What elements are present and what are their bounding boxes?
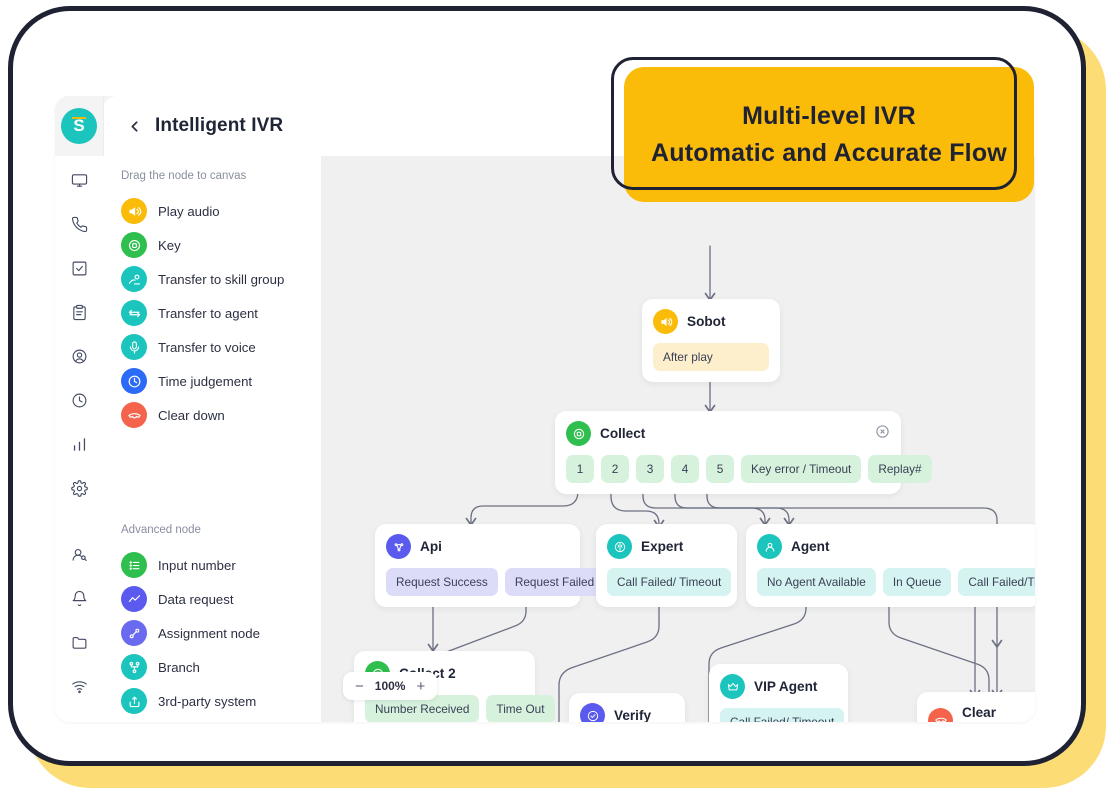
node-chip[interactable]: After play (653, 343, 769, 371)
checkbox-icon[interactable] (67, 256, 91, 280)
node-chips: After play (653, 343, 769, 371)
screenshot-stage: Intelligent IVR S (0, 0, 1120, 800)
link-node-icon (121, 620, 147, 646)
list-number-icon (121, 552, 147, 578)
rail-bottom-group (67, 522, 91, 722)
palette-item-label: Transfer to skill group (158, 272, 284, 287)
flow-node-sobot[interactable]: Sobot After play (642, 299, 780, 382)
palette-item-input-number[interactable]: Input number (121, 548, 321, 582)
palette-gap (121, 432, 321, 524)
branch-icon (121, 654, 147, 680)
speaker-icon (121, 198, 147, 224)
microphone-icon (121, 334, 147, 360)
keypad-icon (566, 421, 591, 446)
monitor-icon[interactable] (67, 168, 91, 192)
palette-item-transfer-to-skill-group[interactable]: Transfer to skill group (121, 262, 321, 296)
flow-node-vip-agent[interactable]: VIP Agent Call Failed/ Timeout (709, 664, 848, 722)
zoom-out-button[interactable]: − (355, 679, 364, 694)
clipboard-icon[interactable] (67, 300, 91, 324)
zoom-control: − 100% + (343, 672, 437, 700)
palette-item-label: Transfer to voice (158, 340, 256, 355)
palette-item-time-judgement[interactable]: Time judgement (121, 364, 321, 398)
user-search-icon[interactable] (67, 542, 91, 566)
palette-item-transfer-to-voice[interactable]: Transfer to voice (121, 330, 321, 364)
flow-node-agent[interactable]: Agent No Agent Available In Queue Call F… (746, 524, 1035, 607)
node-title: VIP Agent (754, 679, 817, 694)
node-header: Agent (757, 534, 1030, 559)
brain-icon (607, 534, 632, 559)
node-chip[interactable]: 2 (601, 455, 629, 483)
flow-node-verify[interactable]: Verify After Assignment (569, 693, 685, 722)
close-icon[interactable] (875, 424, 890, 439)
palette-item-label: Input number (158, 558, 236, 573)
keypad-icon (121, 232, 147, 258)
crown-icon (720, 674, 745, 699)
palette-item-label: Transfer to agent (158, 306, 258, 321)
hangup-icon (121, 402, 147, 428)
node-chip[interactable]: Call Failed/Timeout (958, 568, 1035, 596)
brand-logo[interactable]: S (61, 108, 97, 144)
node-chip[interactable]: Request Failed (505, 568, 604, 596)
verify-badge-icon (580, 703, 605, 722)
palette-item-label: Data request (158, 592, 234, 607)
palette-item-label: Assignment node (158, 626, 260, 641)
node-chip[interactable]: 1 (566, 455, 594, 483)
node-title: Expert (641, 539, 683, 554)
palette-item-play-audio[interactable]: Play audio (121, 194, 321, 228)
clock-icon[interactable] (67, 388, 91, 412)
user-circle-icon[interactable] (67, 344, 91, 368)
palette-item-data-request[interactable]: Data request (121, 582, 321, 616)
node-chips: Call Failed/ Timeout (720, 708, 837, 722)
node-chips: Call Failed/ Timeout (607, 568, 726, 596)
zoom-in-button[interactable]: + (416, 679, 425, 694)
node-title: Api (420, 539, 442, 554)
node-chips: Request Success Request Failed (386, 568, 569, 596)
node-header: Collect (566, 421, 890, 446)
clock-icon (121, 368, 147, 394)
icon-rail (55, 156, 103, 722)
node-header: Clear Down (928, 705, 1035, 722)
page-title: Intelligent IVR (155, 115, 283, 137)
node-title: Verify (614, 708, 651, 722)
wifi-icon[interactable] (67, 674, 91, 698)
hangup-icon (928, 708, 953, 723)
node-header: VIP Agent (720, 674, 837, 699)
user-icon (757, 534, 782, 559)
flow-node-api[interactable]: Api Request Success Request Failed (375, 524, 580, 607)
bell-icon[interactable] (67, 586, 91, 610)
palette-item-3rd-party-system[interactable]: 3rd-party system (121, 684, 321, 718)
palette-item-assignment-node[interactable]: Assignment node (121, 616, 321, 650)
palette-item-label: Branch (158, 660, 200, 675)
node-header: Verify (580, 703, 674, 722)
flow-node-clear-down[interactable]: Clear Down (917, 692, 1035, 722)
node-chip[interactable]: Replay# (868, 455, 931, 483)
flow-canvas[interactable]: Sobot After play Collect (321, 156, 1035, 722)
node-chip[interactable]: Key error / Timeout (741, 455, 861, 483)
node-chips: 1 2 3 4 5 Key error / Timeout Replay# (566, 455, 890, 483)
folder-icon[interactable] (67, 630, 91, 654)
node-chip[interactable]: Call Failed/ Timeout (720, 708, 844, 722)
node-chips: No Agent Available In Queue Call Failed/… (757, 568, 1030, 596)
node-title: Sobot (687, 314, 726, 329)
node-chip[interactable]: Call Failed/ Timeout (607, 568, 731, 596)
line-chart-icon (121, 586, 147, 612)
palette-item-branch[interactable]: Branch (121, 650, 321, 684)
gear-icon[interactable] (67, 476, 91, 500)
palette-item-clear-down[interactable]: Clear down (121, 398, 321, 432)
chevron-left-icon[interactable] (123, 115, 145, 137)
node-chip[interactable]: 3 (636, 455, 664, 483)
speaker-icon (653, 309, 678, 334)
node-header: Sobot (653, 309, 769, 334)
header-divider (103, 96, 104, 156)
transfer-icon (121, 300, 147, 326)
palette-item-label: Key (158, 238, 181, 253)
node-title: Clear Down (962, 705, 1035, 722)
bar-chart-icon[interactable] (67, 432, 91, 456)
flow-node-collect[interactable]: Collect 1 2 3 4 5 Key error / Timeout Re… (555, 411, 901, 494)
upload-box-icon (121, 688, 147, 714)
zoom-level-value: 100% (375, 679, 406, 693)
node-chip[interactable]: No Agent Available (757, 568, 876, 596)
palette-hint: Drag the node to canvas (121, 170, 321, 182)
node-chip[interactable]: Request Success (386, 568, 498, 596)
skill-group-icon (121, 266, 147, 292)
node-header: Api (386, 534, 569, 559)
palette-item-label: Clear down (158, 408, 225, 423)
node-chip[interactable]: In Queue (883, 568, 952, 596)
phone-icon[interactable] (67, 212, 91, 236)
flow-node-expert[interactable]: Expert Call Failed/ Timeout (596, 524, 737, 607)
api-icon (386, 534, 411, 559)
palette-advanced-label: Advanced node (121, 524, 321, 536)
node-title: Collect (600, 426, 645, 441)
palette-item-label: Time judgement (158, 374, 252, 389)
node-title: Agent (791, 539, 830, 554)
palette-item-transfer-to-agent[interactable]: Transfer to agent (121, 296, 321, 330)
palette-item-label: 3rd-party system (158, 694, 256, 709)
node-header: Expert (607, 534, 726, 559)
node-chip[interactable]: 4 (671, 455, 699, 483)
node-chip[interactable]: Time Out (486, 695, 554, 722)
palette-item-key[interactable]: Key (121, 228, 321, 262)
node-chip[interactable]: 5 (706, 455, 734, 483)
palette-item-label: Play audio (158, 204, 220, 219)
node-palette: Drag the node to canvas Play audio Key T… (103, 156, 321, 722)
callout-outline (611, 57, 1017, 190)
